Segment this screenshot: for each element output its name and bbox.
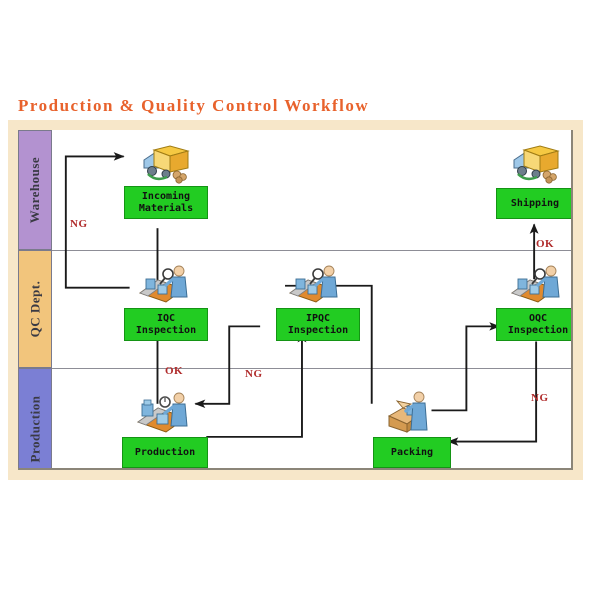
inspector-icon: [288, 263, 344, 305]
edge-label-ng-ipqc-to-production: NG: [245, 368, 263, 380]
delivery-truck-icon: [140, 144, 192, 184]
edge-oqc-ng-to-packing: [448, 341, 536, 441]
node-label-packing: Packing: [373, 437, 451, 468]
node-label-oqc-inspection: OQC Inspection: [496, 308, 573, 341]
node-iqc-inspection[interactable]: IQC Inspection: [124, 263, 208, 353]
edge-label-ok-oqc-to-shipping: OK: [536, 238, 554, 250]
node-label-production: Production: [122, 437, 208, 468]
workflow-diagram-frame: Warehouse QC Dept. Production: [8, 120, 583, 480]
delivery-truck-icon: [510, 144, 562, 184]
packer-icon: [383, 390, 441, 434]
node-label-shipping: Shipping: [496, 188, 573, 219]
node-oqc-inspection[interactable]: OQC Inspection: [496, 263, 573, 353]
workflow-diagram-canvas: Warehouse QC Dept. Production: [18, 130, 573, 470]
node-label-ipqc-inspection: IPQC Inspection: [276, 308, 360, 341]
machine-operator-icon: [136, 390, 194, 434]
node-shipping[interactable]: Shipping: [496, 144, 573, 234]
node-label-incoming-materials: Incoming Materials: [124, 186, 208, 219]
node-label-iqc-inspection: IQC Inspection: [124, 308, 208, 341]
node-ipqc-inspection[interactable]: IPQC Inspection: [276, 263, 360, 353]
edge-label-ng-oqc-to-packing: NG: [531, 392, 549, 404]
edge-label-ng-iqc-to-incoming: NG: [70, 218, 88, 230]
node-packing[interactable]: Packing: [373, 390, 451, 470]
inspector-icon: [510, 263, 566, 305]
edge-label-ok-iqc-to-production: OK: [165, 365, 183, 377]
page-title: Production & Quality Control Workflow: [18, 96, 369, 116]
node-incoming-materials[interactable]: Incoming Materials: [124, 144, 208, 234]
node-production[interactable]: Production: [122, 390, 208, 470]
inspector-icon: [138, 263, 194, 305]
